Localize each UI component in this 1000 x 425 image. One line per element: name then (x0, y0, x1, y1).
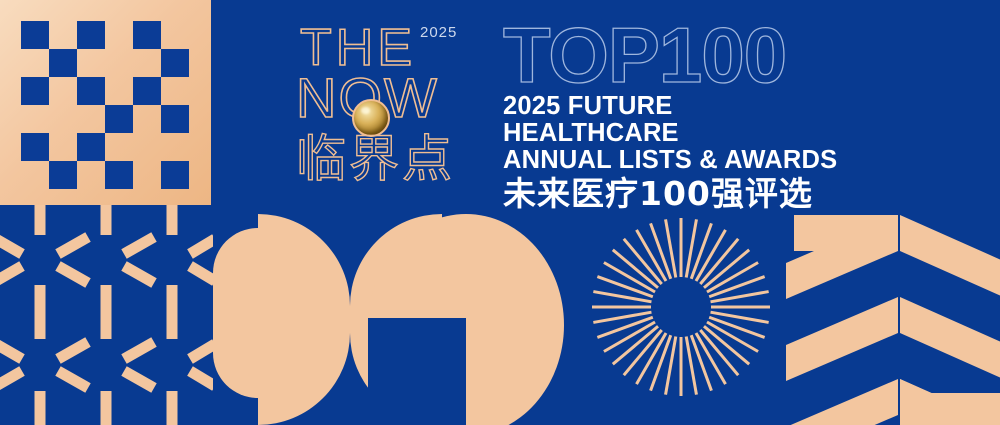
half-disc-shape (213, 228, 258, 398)
checker-cell (49, 49, 77, 77)
checkerboard-pattern (0, 0, 211, 205)
checker-cell (21, 21, 49, 49)
checker-cell (77, 105, 105, 133)
checker-cell (105, 161, 133, 189)
checker-cell (105, 49, 133, 77)
checker-cell (161, 133, 189, 161)
checker-cell (21, 133, 49, 161)
subtitle-en-line-2: ANNUAL LISTS & AWARDS (503, 147, 853, 174)
checker-cell (133, 49, 161, 77)
checker-cell (133, 21, 161, 49)
checker-cell (105, 133, 133, 161)
checker-cell (105, 77, 133, 105)
checker-cell (77, 77, 105, 105)
the-now-logo: THE 2025 NOW 临界点 (296, 22, 486, 192)
checker-cell (133, 105, 161, 133)
checker-cell (49, 77, 77, 105)
starburst-pattern (592, 218, 770, 396)
checker-cell (161, 77, 189, 105)
hexagon-lattice-pattern (0, 205, 213, 425)
page-title: TOP100 (503, 18, 853, 93)
subtitle-en-line-1: 2025 FUTURE HEALTHCARE (503, 93, 853, 148)
checker-cell (21, 77, 49, 105)
logo-year-text: 2025 (420, 24, 457, 41)
checker-cell (49, 133, 77, 161)
checkerboard-grid (21, 21, 189, 189)
checker-cell (21, 161, 49, 189)
checker-cell (161, 49, 189, 77)
logo-chinese-text: 临界点 (296, 134, 455, 184)
subtitle-cn: 未来医疗100强评选 (503, 177, 853, 212)
checker-cell (161, 161, 189, 189)
semicircle-right (258, 214, 350, 425)
checker-cell (77, 161, 105, 189)
headline-block: TOP100 2025 FUTURE HEALTHCARE ANNUAL LIS… (503, 18, 853, 211)
checker-cell (161, 105, 189, 133)
checker-cell (133, 77, 161, 105)
checker-cell (161, 21, 189, 49)
event-banner: THE 2025 NOW 临界点 TOP100 2025 FUTURE HEAL… (0, 0, 1000, 425)
gold-orb-highlight (361, 107, 370, 114)
checker-cell (105, 21, 133, 49)
checker-cell (49, 161, 77, 189)
checker-cell (133, 133, 161, 161)
checker-cell (133, 161, 161, 189)
checker-cell (77, 49, 105, 77)
checker-cell (105, 105, 133, 133)
checker-cell (49, 105, 77, 133)
notched-circle-cutout (368, 318, 466, 425)
checker-cell (77, 133, 105, 161)
checker-cell (21, 105, 49, 133)
checker-cell (49, 21, 77, 49)
checker-cell (21, 49, 49, 77)
checker-cell (77, 21, 105, 49)
diagonal-stripes-pattern (786, 203, 1000, 425)
